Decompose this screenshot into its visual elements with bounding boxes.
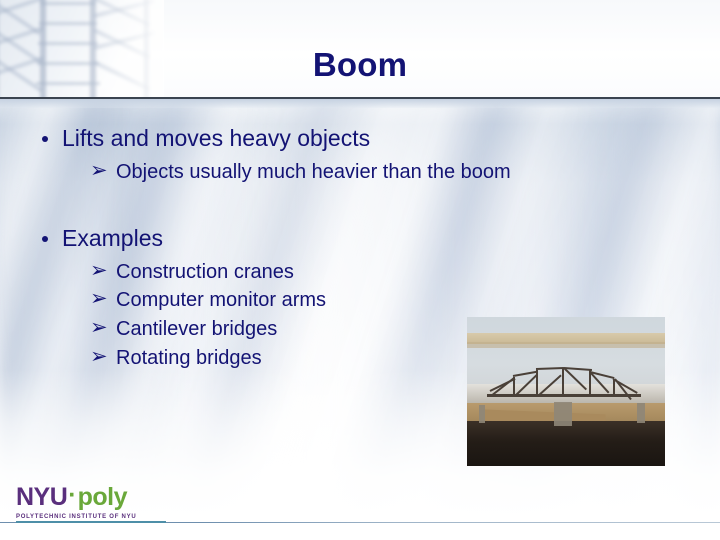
bullet-level1-label: Lifts and moves heavy objects [62,125,370,151]
title-divider-glow [0,99,720,108]
truss-structure [487,357,641,397]
presentation-slide: Boom Lifts and moves heavy objects ➢ Obj… [0,0,720,540]
arrowhead-bullet-icon: ➢ [90,158,108,185]
bullet-level2-label: Cantilever bridges [116,318,277,340]
logo-secondary-text: poly [78,483,127,511]
sub-bullet-list: ➢ Objects usually much heavier than the … [62,160,690,186]
logo-separator-dot: · [68,481,76,509]
footer-divider-accent [16,521,166,523]
bullet-level2-label: Objects usually much heavier than the bo… [116,161,511,183]
logo-tagline: POLYTECHNIC INSTITUTE OF NYU [16,514,136,520]
bullet-level1-label: Examples [62,225,163,251]
bullet-list-group-1: Lifts and moves heavy objects ➢ Objects … [30,125,690,186]
arrowhead-bullet-icon: ➢ [90,258,108,285]
bullet-level2: ➢ Objects usually much heavier than the … [62,160,690,186]
bullet-level2-label: Computer monitor arms [116,289,326,311]
bullet-level2-label: Rotating bridges [116,347,262,369]
nyu-poly-logo: NYU·poly POLYTECHNIC INSTITUTE OF NYU [16,485,136,520]
page-title: Boom [0,48,720,81]
arrowhead-bullet-icon: ➢ [90,286,108,313]
bullet-dot-icon [42,136,48,142]
slide-header-band: Boom [0,0,720,98]
logo-primary-text: NYU [16,483,67,511]
rotating-truss-bridge-photo [467,317,665,466]
bullet-level2-label: Construction cranes [116,261,294,283]
arrowhead-bullet-icon: ➢ [90,315,108,342]
bullet-level1: Lifts and moves heavy objects ➢ Objects … [30,125,690,186]
bullet-level2: ➢ Construction cranes [62,260,690,286]
bullet-group-spacer [30,189,690,225]
bullet-level2: ➢ Computer monitor arms [62,288,690,314]
bullet-dot-icon [42,236,48,242]
arrowhead-bullet-icon: ➢ [90,344,108,371]
